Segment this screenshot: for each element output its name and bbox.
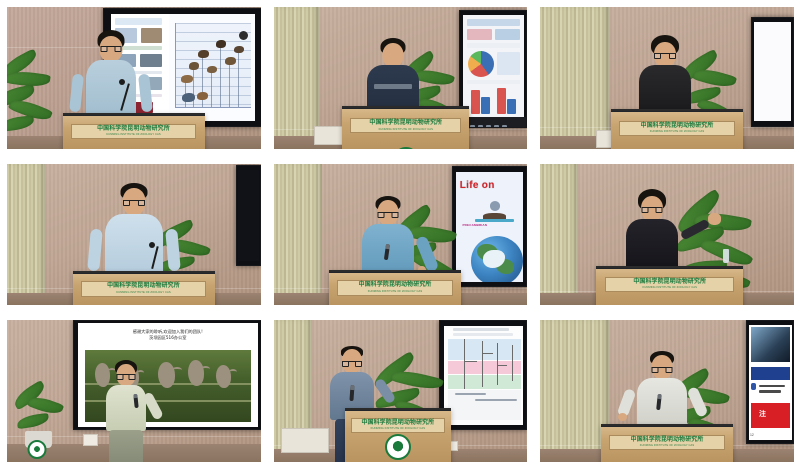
- projection-screen: 注 12: [746, 320, 794, 444]
- podium-sign: 中国科学院昆明动物研究所 KUNMING INSTITUTE OF ZOOLOG…: [350, 118, 462, 133]
- photo-1: 中国科学院昆明动物研究所 KUNMING INSTITUTE OF ZOOLOG…: [7, 7, 261, 149]
- bird-phylogeny-chart: [169, 14, 256, 121]
- photo-3: 中国科学院昆明动物研究所 KUNMING INSTITUTE OF ZOOLOG…: [540, 7, 794, 149]
- photo-4: 中国科学院昆明动物研究所 KUNMING INSTITUTE OF ZOOLOG…: [7, 164, 261, 306]
- podium-sign: 中国科学院昆明动物研究所 KUNMING INSTITUTE OF ZOOLOG…: [619, 121, 735, 136]
- podium: 中国科学院昆明动物研究所 KUNMING INSTITUTE OF ZOOLOG…: [345, 408, 452, 462]
- institute-emblem: [28, 440, 47, 459]
- podium-sign-en: KUNMING INSTITUTE OF ZOOLOGY CAS: [356, 427, 440, 430]
- slide-red-notice: 注: [751, 403, 790, 428]
- photo-cell-6[interactable]: 中国科学院昆明动物研究所 KUNMING INSTITUTE OF ZOOLOG…: [533, 157, 800, 314]
- water-bottle: [723, 249, 729, 264]
- photo-cell-1[interactable]: 中国科学院昆明动物研究所 KUNMING INSTITUTE OF ZOOLOG…: [0, 0, 267, 157]
- photo-cell-3[interactable]: 中国科学院昆明动物研究所 KUNMING INSTITUTE OF ZOOLOG…: [533, 0, 800, 157]
- podium: 中国科学院昆明动物研究所 KUNMING INSTITUTE OF ZOOLOG…: [73, 271, 215, 305]
- podium: 中国科学院昆明动物研究所 KUNMING INSTITUTE OF ZOOLOG…: [329, 270, 461, 305]
- podium-sign: 中国科学院昆明动物研究所 KUNMING INSTITUTE OF ZOOLOG…: [609, 435, 725, 450]
- photo-cell-5[interactable]: Life on PRECAMBRIAN: [267, 157, 534, 314]
- photo-cell-2[interactable]: 中国科学院昆明动物研究所 KUNMING INSTITUTE OF ZOOLOG…: [267, 0, 534, 157]
- photo-2: 中国科学院昆明动物研究所 KUNMING INSTITUTE OF ZOOLOG…: [274, 7, 528, 149]
- podium: 中国科学院昆明动物研究所 KUNMING INSTITUTE OF ZOOLOG…: [611, 109, 743, 149]
- slide-title: Life on: [460, 180, 495, 191]
- earth-illustration: [471, 236, 524, 282]
- photo-cell-9[interactable]: 注 12: [533, 313, 800, 470]
- slide-blue-banner: [751, 367, 790, 380]
- notice-slide: 注 12: [749, 325, 792, 440]
- podium: 中国科学院昆明动物研究所 KUNMING INSTITUTE OF ZOOLOG…: [63, 113, 205, 148]
- podium-sign-en: KUNMING INSTITUTE OF ZOOLOGY CAS: [625, 130, 730, 133]
- speaker-person: [93, 360, 159, 456]
- podium-sign: 中国科学院昆明动物研究所 KUNMING INSTITUTE OF ZOOLOG…: [351, 418, 445, 433]
- microphone-head: [119, 79, 125, 85]
- slide-caption: 感谢大家的聆听,欢迎加入我们的团队! 茨坝园区516办公室: [78, 329, 258, 342]
- podium-sign-en: KUNMING INSTITUTE OF ZOOLOGY CAS: [87, 291, 200, 294]
- podium: 中国科学院昆明动物研究所 KUNMING INSTITUTE OF ZOOLOG…: [596, 266, 743, 306]
- potted-plant: [12, 388, 73, 448]
- photo-5: Life on PRECAMBRIAN: [274, 164, 528, 306]
- slide-caption-line2: 茨坝园区516办公室: [78, 335, 258, 341]
- podium-sign: 中国科学院昆明动物研究所 KUNMING INSTITUTE OF ZOOLOG…: [605, 277, 734, 292]
- podium: 中国科学院昆明动物研究所 KUNMING INSTITUTE OF ZOOLOG…: [342, 106, 469, 149]
- projection-screen: [751, 17, 794, 127]
- photo-cell-8[interactable]: 中国科学院昆明动物研究所 KUNMING INSTITUTE OF ZOOLOG…: [267, 313, 534, 470]
- podium-sign: 中国科学院昆明动物研究所 KUNMING INSTITUTE OF ZOOLOG…: [71, 124, 196, 139]
- podium-sign-en: KUNMING INSTITUTE OF ZOOLOGY CAS: [355, 128, 456, 131]
- podium-sign: 中国科学院昆明动物研究所 KUNMING INSTITUTE OF ZOOLOG…: [337, 280, 453, 295]
- institute-emblem: [385, 434, 411, 460]
- handheld-microphone: [349, 385, 354, 401]
- slide-photo: [751, 327, 790, 361]
- podium: 中国科学院昆明动物研究所 KUNMING INSTITUTE OF ZOOLOG…: [601, 424, 733, 462]
- photo-7: 感谢大家的聆听,欢迎加入我们的团队! 茨坝园区516办公室: [7, 320, 261, 462]
- microphone-head: [149, 242, 155, 248]
- institute-emblem: [393, 147, 419, 149]
- photo-8: 中国科学院昆明动物研究所 KUNMING INSTITUTE OF ZOOLOG…: [274, 320, 528, 462]
- gesturing-hand: [708, 213, 721, 225]
- slide-page-number: 12: [750, 433, 754, 437]
- photo-6: 中国科学院昆明动物研究所 KUNMING INSTITUTE OF ZOOLOG…: [540, 164, 794, 306]
- podium-sign-en: KUNMING INSTITUTE OF ZOOLOGY CAS: [343, 290, 448, 293]
- photo-cell-7[interactable]: 感谢大家的聆听,欢迎加入我们的团队! 茨坝园区516办公室: [0, 313, 267, 470]
- podium-sign: 中国科学院昆明动物研究所 KUNMING INSTITUTE OF ZOOLOG…: [81, 281, 206, 296]
- photo-grid-collage: 中国科学院昆明动物研究所 KUNMING INSTITUTE OF ZOOLOG…: [0, 0, 800, 470]
- podium-sign-en: KUNMING INSTITUTE OF ZOOLOGY CAS: [615, 444, 720, 447]
- slide-notice-text: 注: [759, 409, 766, 419]
- podium-sign-en: KUNMING INSTITUTE OF ZOOLOGY CAS: [77, 133, 190, 136]
- podium-sign-en: KUNMING INSTITUTE OF ZOOLOGY CAS: [611, 286, 728, 289]
- projection-screen: [236, 165, 261, 266]
- photo-9: 注 12: [540, 320, 794, 462]
- photo-cell-4[interactable]: 中国科学院昆明动物研究所 KUNMING INSTITUTE OF ZOOLOG…: [0, 157, 267, 314]
